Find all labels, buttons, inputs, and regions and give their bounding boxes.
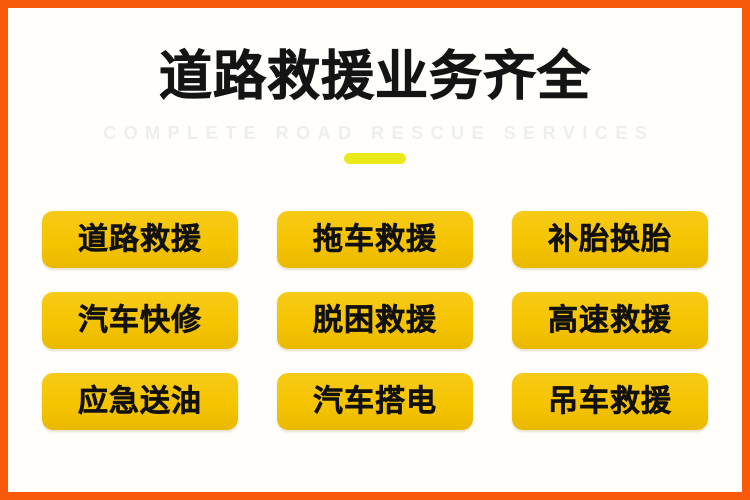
service-grid: 道路救援 拖车救援 补胎换胎 汽车快修 脱困救援 高速救援 应急送油 汽车搭电 xyxy=(42,211,708,430)
service-button-tuokunjiuyuan[interactable]: 脱困救援 xyxy=(277,292,473,349)
service-button-yingjisongyou[interactable]: 应急送油 xyxy=(42,373,238,430)
service-button-gaosujiuyuan[interactable]: 高速救援 xyxy=(512,292,708,349)
promo-poster: 道路救援业务齐全 COMPLETE ROAD RESCUE SERVICES 道… xyxy=(0,0,750,500)
service-button-tuochejiuyuan[interactable]: 拖车救援 xyxy=(277,211,473,268)
page-title: 道路救援业务齐全 xyxy=(8,48,742,106)
service-button-label: 道路救援 xyxy=(78,223,202,257)
service-button-daolujiuyuan[interactable]: 道路救援 xyxy=(42,211,238,268)
service-button-label: 高速救援 xyxy=(548,304,672,338)
service-button-butaihuantai[interactable]: 补胎换胎 xyxy=(512,211,708,268)
poster-canvas: 道路救援业务齐全 COMPLETE ROAD RESCUE SERVICES 道… xyxy=(8,8,742,492)
service-button-label: 拖车救援 xyxy=(313,223,437,257)
accent-divider xyxy=(344,153,406,164)
page-subtitle: COMPLETE ROAD RESCUE SERVICES xyxy=(8,122,742,144)
service-button-diaochejiuyuan[interactable]: 吊车救援 xyxy=(512,373,708,430)
service-button-label: 应急送油 xyxy=(78,385,202,419)
service-button-label: 脱困救援 xyxy=(313,304,437,338)
service-button-label: 汽车快修 xyxy=(78,304,202,338)
service-button-label: 吊车救援 xyxy=(548,385,672,419)
service-button-label: 汽车搭电 xyxy=(313,385,437,419)
service-button-qichedadian[interactable]: 汽车搭电 xyxy=(277,373,473,430)
service-button-label: 补胎换胎 xyxy=(548,223,672,257)
service-button-qichekuaixiu[interactable]: 汽车快修 xyxy=(42,292,238,349)
